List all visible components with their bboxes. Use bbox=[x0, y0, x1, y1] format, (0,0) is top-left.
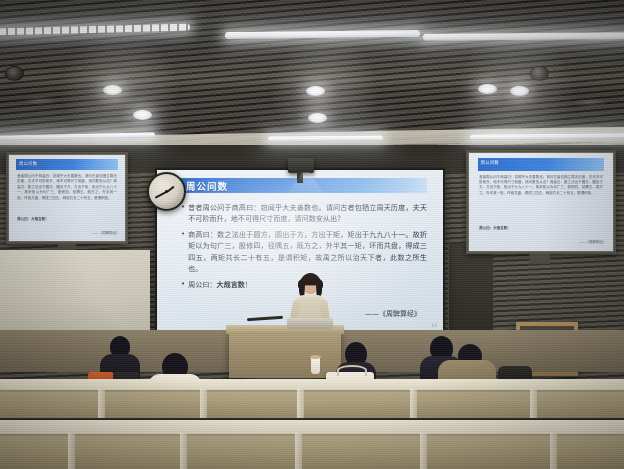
bullet-dot-icon: • bbox=[181, 229, 185, 275]
slide-citation: ——《周髀算经》 bbox=[365, 309, 421, 319]
bench-seam bbox=[410, 388, 417, 418]
slide-bullet-3-prefix: 周公曰： bbox=[188, 280, 216, 289]
bench-seam bbox=[295, 432, 302, 469]
ceiling bbox=[0, 0, 624, 152]
ceiling-downlight-2 bbox=[133, 110, 152, 120]
slide-page-number: 14 bbox=[431, 324, 437, 329]
slide-bullet-3-suffix: ！ bbox=[245, 280, 252, 289]
clock-center-pin bbox=[165, 190, 168, 193]
bullet-dot-icon: • bbox=[181, 202, 185, 225]
lecture-hall-scene: 周公问数 昔者周公问于商高曰：窃闻乎大夫善数也。请问古者包牺立周天历度，夫天不可… bbox=[0, 0, 624, 469]
bullet-dot-icon: • bbox=[181, 279, 185, 290]
side-monitor-right-stand bbox=[530, 254, 550, 264]
slide-bullet-2-text: 商高曰：数之法出于圆方，圆出于方，方出于矩，矩出于九九八十一。故折矩以为句广三，… bbox=[188, 229, 427, 275]
ceiling-light-strip-3 bbox=[423, 32, 624, 40]
bench-seam bbox=[180, 432, 187, 469]
side-monitor-right: 周公问数 昔者周公问于商高曰：窃闻乎大夫善数也。请问古者包牺立周天历度，夫天不可… bbox=[466, 150, 616, 254]
side-monitor-left-bezel bbox=[6, 152, 128, 244]
ceiling-speaker-left bbox=[5, 66, 24, 81]
ceiling-downlight-5 bbox=[478, 84, 497, 94]
slide-bullet-1-text: 昔者周公问于商高曰：窃闻乎大夫善数也。请问古者包牺立周天历度，夫天不可阶而升，地… bbox=[188, 202, 427, 225]
ceiling-downlight-1 bbox=[103, 85, 122, 95]
slide-bullet-3-emphasis: 大哉言数 bbox=[217, 280, 245, 289]
left-whiteboard bbox=[0, 250, 150, 336]
slide-bullet-1: • 昔者周公问于商高曰：窃闻乎大夫善数也。请问古者包牺立周天历度，夫天不可阶而升… bbox=[181, 202, 427, 225]
bench-desktop bbox=[0, 420, 624, 434]
side-monitor-right-bezel bbox=[466, 150, 616, 254]
bench-seam bbox=[200, 388, 207, 418]
bench-seam bbox=[550, 432, 557, 469]
wall-clock bbox=[147, 172, 186, 211]
ceiling-speaker-right bbox=[530, 66, 549, 81]
slide-bullet-2: • 商高曰：数之法出于圆方，圆出于方，方出于矩，矩出于九九八十一。故折矩以为句广… bbox=[181, 229, 427, 275]
bench-seam bbox=[297, 388, 304, 418]
ceiling-light-strip-5 bbox=[268, 135, 383, 141]
bench-seam bbox=[420, 432, 427, 469]
ceiling-vent-2 bbox=[572, 98, 608, 107]
side-door-panel bbox=[448, 244, 493, 336]
paper-cup bbox=[311, 357, 320, 374]
bench-seam bbox=[68, 432, 75, 469]
ceiling-vent-1 bbox=[22, 96, 58, 105]
bench-row-middle bbox=[0, 388, 624, 418]
podium-equipment bbox=[287, 318, 333, 329]
side-monitor-left: 周公问数 昔者周公问于商高曰：窃闻乎大夫善数也。请问古者包牺立周天历度，夫天不可… bbox=[6, 152, 128, 244]
bench-seam bbox=[530, 388, 537, 418]
bench-seam bbox=[98, 388, 105, 418]
bench-row-front bbox=[0, 432, 624, 469]
podium bbox=[229, 330, 341, 378]
ceiling-downlight-3 bbox=[306, 86, 325, 96]
ceiling-projector bbox=[288, 158, 314, 173]
ceiling-downlight-6 bbox=[510, 86, 529, 96]
ceiling-downlight-4 bbox=[308, 113, 327, 123]
